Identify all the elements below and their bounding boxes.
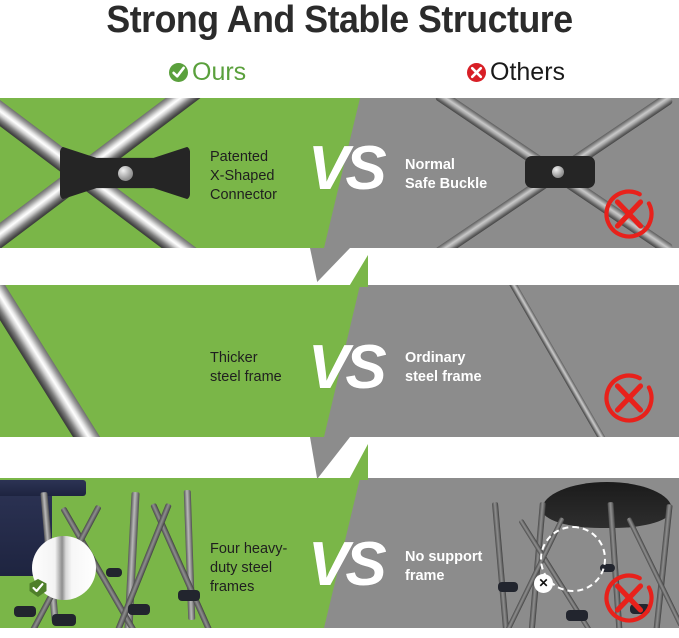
legend-label-ours: Ours bbox=[192, 58, 246, 86]
row3-left-line-3: frames bbox=[210, 578, 287, 597]
legend-item-others: Others bbox=[466, 58, 565, 86]
row1-left-line-3: Connector bbox=[210, 186, 277, 205]
check-circle-icon bbox=[168, 62, 189, 83]
comparison-row-support-frames: ✕ Four heavy- duty steel frames VS No su… bbox=[0, 478, 679, 628]
comparison-row-connector: Patented X-Shaped Connector VS Normal Sa… bbox=[0, 98, 679, 248]
row1-vs-mark: VS bbox=[308, 138, 383, 200]
gutter-2-gray-tip bbox=[310, 437, 350, 479]
row1-green-panel bbox=[0, 98, 345, 248]
row3-mini-x-icon: ✕ bbox=[534, 574, 553, 593]
row2-left-label: Thicker steel frame bbox=[210, 349, 282, 387]
row2-left-line-1: Thicker bbox=[210, 349, 282, 368]
row1-left-line-1: Patented bbox=[210, 148, 277, 167]
row3-left-line-1: Four heavy- bbox=[210, 540, 287, 559]
comparison-infographic: Strong And Stable Structure Ours Others bbox=[0, 0, 679, 638]
row3-right-line-2: frame bbox=[405, 567, 482, 586]
page-title: Strong And Stable Structure bbox=[20, 0, 658, 42]
row3-left-label: Four heavy- duty steel frames bbox=[210, 540, 287, 597]
legend-item-ours: Ours bbox=[168, 58, 246, 86]
row2-vs-mark: VS bbox=[308, 337, 383, 399]
row2-left-line-2: steel frame bbox=[210, 368, 282, 387]
row1-left-label: Patented X-Shaped Connector bbox=[210, 148, 277, 205]
gutter-1-gray-tip bbox=[310, 248, 350, 282]
row2-red-x-stamp bbox=[601, 370, 657, 431]
row1-red-x-stamp bbox=[601, 186, 657, 247]
row2-right-line-2: steel frame bbox=[405, 368, 482, 387]
row2-green-panel bbox=[0, 285, 345, 437]
row3-mini-check-icon bbox=[28, 578, 48, 603]
row3-right-line-1: No support bbox=[405, 548, 482, 567]
row1-left-line-2: X-Shaped bbox=[210, 167, 277, 186]
x-circle-icon bbox=[466, 62, 487, 83]
comparison-row-frame-thickness: Thicker steel frame VS Ordinary steel fr… bbox=[0, 285, 679, 437]
row1-right-line-1: Normal bbox=[405, 156, 487, 175]
row2-right-line-1: Ordinary bbox=[405, 349, 482, 368]
legend-label-others: Others bbox=[490, 58, 565, 86]
row3-vs-mark: VS bbox=[308, 534, 383, 596]
row1-right-label: Normal Safe Buckle bbox=[405, 156, 487, 194]
row3-red-x-stamp bbox=[601, 570, 657, 628]
legend: Ours Others bbox=[0, 58, 679, 88]
row1-right-line-2: Safe Buckle bbox=[405, 175, 487, 194]
row2-right-label: Ordinary steel frame bbox=[405, 349, 482, 387]
row3-left-line-2: duty steel bbox=[210, 559, 287, 578]
row3-right-label: No support frame bbox=[405, 548, 482, 586]
